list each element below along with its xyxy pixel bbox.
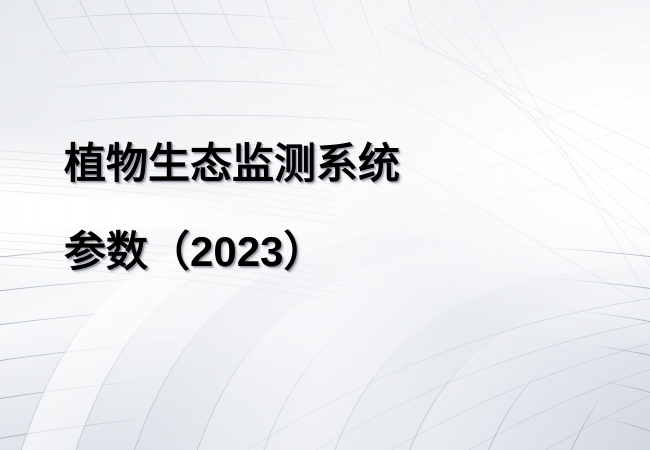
slide-title-line-1: 植物生态监测系统 bbox=[64, 120, 604, 208]
slide-title-line-2: 参数（2023） bbox=[64, 208, 604, 296]
title-slide: 植物生态监测系统 参数（2023） bbox=[0, 0, 650, 450]
slide-title-block: 植物生态监测系统 参数（2023） bbox=[64, 120, 604, 296]
